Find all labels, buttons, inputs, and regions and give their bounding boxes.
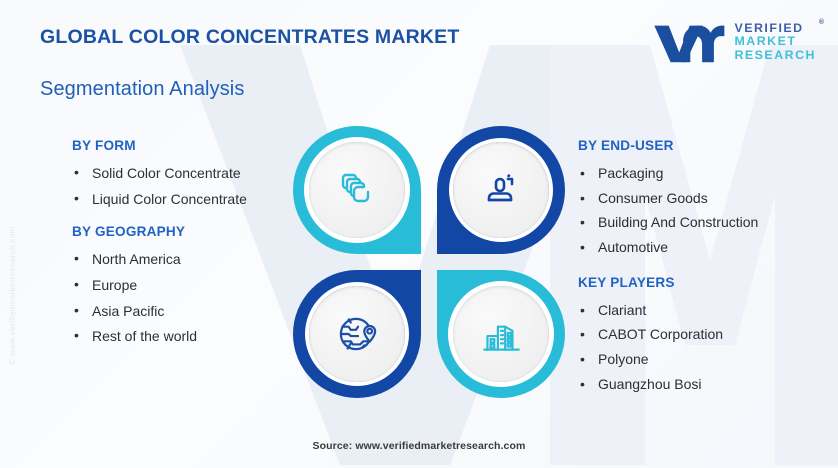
list-item-label: Building And Construction — [598, 211, 828, 234]
logo-line-market: MARKET — [734, 35, 816, 48]
list-item-label: Polyone — [598, 348, 828, 371]
list-item: •Consumer Goods — [578, 187, 828, 210]
logo-line-research: RESEARCH — [734, 49, 816, 62]
quadrant-icon-circle — [453, 142, 549, 238]
bullet-icon: • — [578, 211, 587, 234]
segment-heading-key-players: KEY PLAYERS — [578, 275, 828, 290]
list-item: •Building And Construction — [578, 211, 828, 234]
globe-location-icon — [332, 309, 382, 359]
list-item-label: Automotive — [598, 236, 828, 259]
list-item: •Automotive — [578, 236, 828, 259]
buildings-icon — [476, 309, 526, 359]
quadrant-key-players — [437, 270, 565, 398]
list-item: •Europe — [72, 273, 322, 299]
bullet-icon: • — [578, 348, 587, 371]
list-item-label: Consumer Goods — [598, 187, 828, 210]
quadrant-by-end-user — [437, 126, 565, 254]
quadrant-by-form — [293, 126, 421, 254]
color-layers-icon — [333, 166, 381, 214]
segment-heading-by-form: BY FORM — [72, 138, 322, 153]
page-subtitle: Segmentation Analysis — [40, 78, 244, 101]
bullet-icon: • — [578, 323, 587, 346]
page-title: GLOBAL COLOR CONCENTRATES MARKET — [40, 26, 460, 49]
list-item-label: Asia Pacific — [92, 299, 322, 325]
list-item-label: Packaging — [598, 162, 828, 185]
segment-list-by-geography: •North America •Europe •Asia Pacific •Re… — [72, 247, 322, 351]
list-item-label: Liquid Color Concentrate — [92, 187, 322, 213]
list-item: •Guangzhou Bosi — [578, 373, 828, 396]
quadrant-icon-circle — [309, 142, 405, 238]
segmentation-quadrant-diagram — [293, 126, 565, 398]
right-column: BY END-USER •Packaging •Consumer Goods •… — [578, 138, 828, 411]
list-item-label: Rest of the world — [92, 324, 322, 350]
quadrant-by-geography — [293, 270, 421, 398]
list-item: •Polyone — [578, 348, 828, 371]
logo-line-verified: VERIFIED® — [734, 22, 816, 35]
vmr-logo: VERIFIED® MARKET RESEARCH — [653, 20, 816, 64]
segment-by-end-user: BY END-USER •Packaging •Consumer Goods •… — [578, 138, 828, 259]
vmr-logo-icon — [653, 20, 725, 64]
list-item: •North America — [72, 247, 322, 273]
infographic-canvas: © www.verifiedmarketresearch.com GLOBAL … — [0, 0, 838, 468]
list-item: •Rest of the world — [72, 324, 322, 350]
side-watermark-text: © www.verifiedmarketresearch.com — [8, 226, 17, 365]
list-item: •Solid Color Concentrate — [72, 161, 322, 187]
logo-wordmark: VERIFIED® MARKET RESEARCH — [734, 22, 816, 62]
list-item: •Asia Pacific — [72, 299, 322, 325]
list-item-label: North America — [92, 247, 322, 273]
bullet-icon: • — [72, 187, 81, 210]
bullet-icon: • — [578, 187, 587, 210]
source-text: Source: www.verifiedmarketresearch.com — [0, 440, 838, 452]
list-item-label: Solid Color Concentrate — [92, 161, 322, 187]
segment-list-key-players: •Clariant •CABOT Corporation •Polyone •G… — [578, 299, 828, 396]
bullet-icon: • — [578, 373, 587, 396]
segment-list-by-form: •Solid Color Concentrate •Liquid Color C… — [72, 161, 322, 213]
list-item: •CABOT Corporation — [578, 323, 828, 346]
bullet-icon: • — [72, 299, 81, 322]
list-item: •Packaging — [578, 162, 828, 185]
list-item-label: Clariant — [598, 299, 828, 322]
segment-key-players: KEY PLAYERS •Clariant •CABOT Corporation… — [578, 275, 828, 396]
segment-heading-by-geography: BY GEOGRAPHY — [72, 224, 322, 239]
list-item: •Clariant — [578, 299, 828, 322]
segment-heading-by-end-user: BY END-USER — [578, 138, 828, 153]
bullet-icon: • — [578, 162, 587, 185]
list-item: •Liquid Color Concentrate — [72, 187, 322, 213]
segment-by-form: BY FORM •Solid Color Concentrate •Liquid… — [72, 138, 322, 213]
registered-mark-icon: ® — [819, 19, 824, 27]
bullet-icon: • — [72, 273, 81, 296]
list-item-label: Europe — [92, 273, 322, 299]
bullet-icon: • — [72, 324, 81, 347]
left-column: BY FORM •Solid Color Concentrate •Liquid… — [72, 138, 322, 366]
bullet-icon: • — [578, 299, 587, 322]
bullet-icon: • — [72, 247, 81, 270]
end-user-person-icon — [477, 166, 525, 214]
bullet-icon: • — [578, 236, 587, 259]
quadrant-icon-circle — [453, 286, 549, 382]
bullet-icon: • — [72, 161, 81, 184]
list-item-label: CABOT Corporation — [598, 323, 828, 346]
quadrant-icon-circle — [309, 286, 405, 382]
list-item-label: Guangzhou Bosi — [598, 373, 828, 396]
segment-by-geography: BY GEOGRAPHY •North America •Europe •Asi… — [72, 224, 322, 351]
segment-list-by-end-user: •Packaging •Consumer Goods •Building And… — [578, 162, 828, 259]
